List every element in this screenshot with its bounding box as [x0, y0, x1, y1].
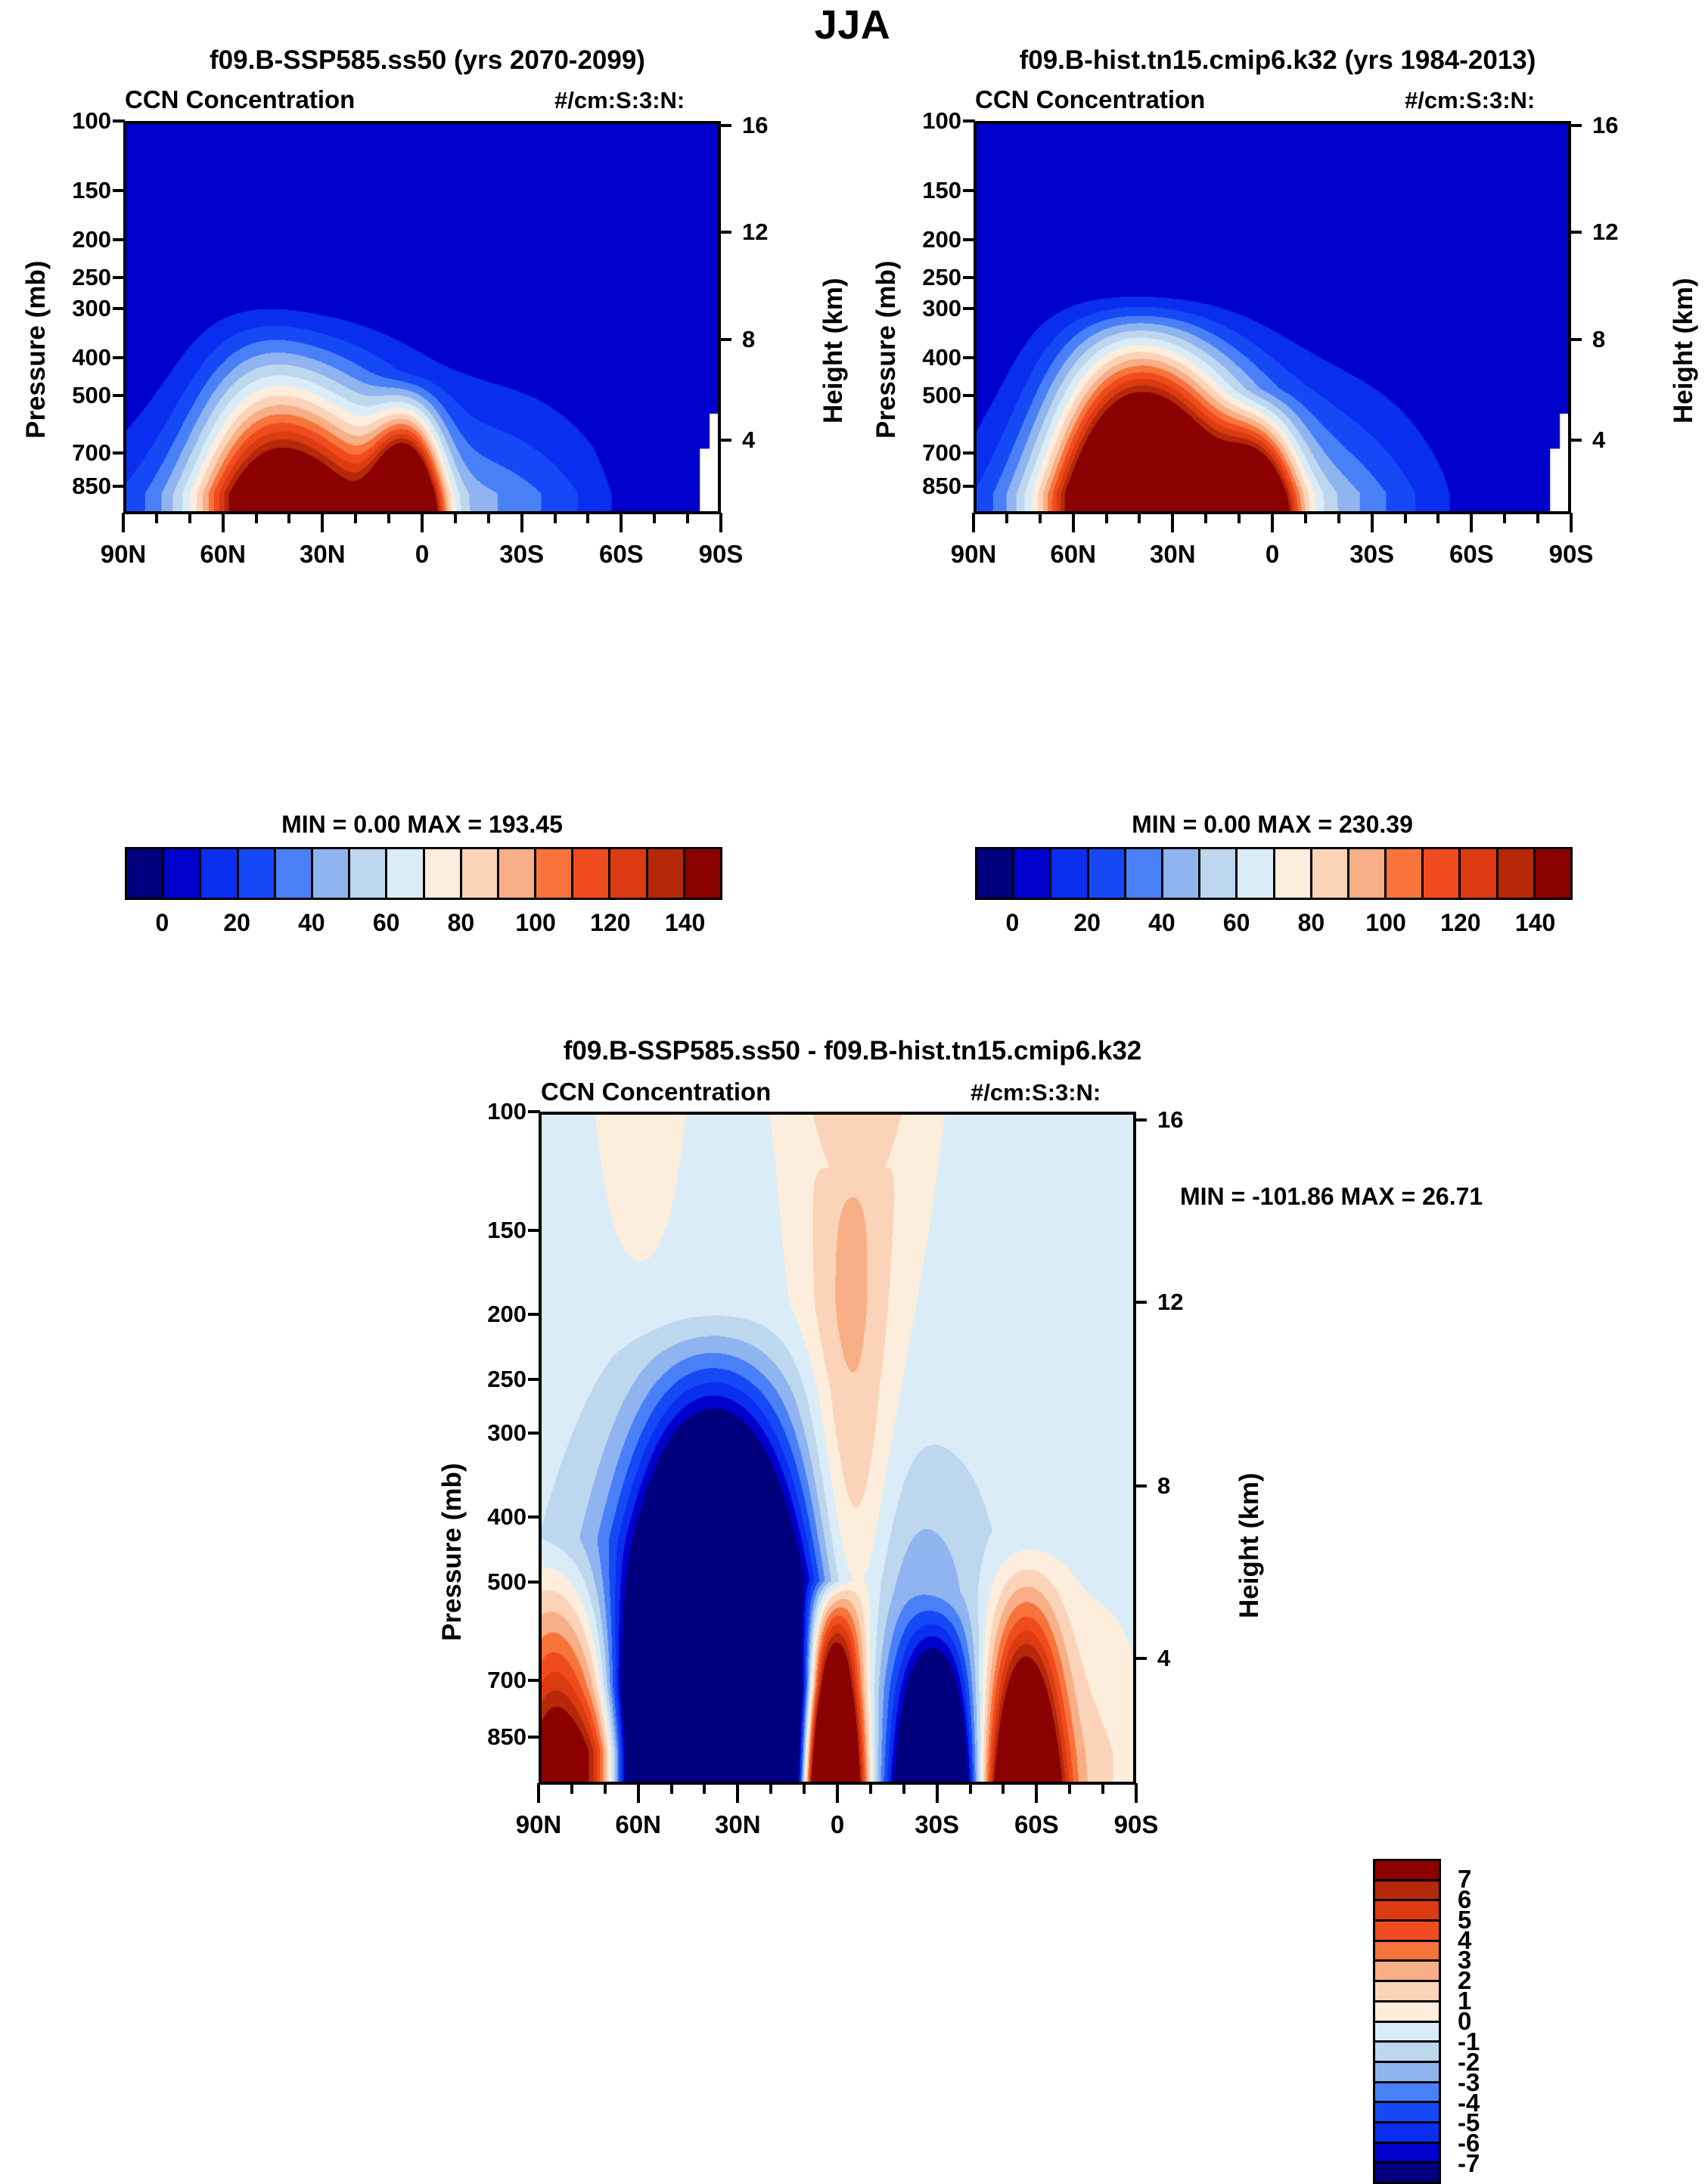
colorbar-cell: [1375, 1942, 1439, 1962]
colorbar-tick-label: 40: [298, 909, 325, 937]
colorbar-cell: [1375, 1882, 1439, 1902]
panel-diff-colorbar: [1373, 1859, 1441, 2184]
figure-title: JJA: [0, 2, 1705, 48]
colorbar-cell: [1375, 2043, 1439, 2063]
colorbar-cell: [1375, 2003, 1439, 2023]
colorbar-cell: [1375, 2144, 1439, 2164]
colorbar-cell: [1375, 2083, 1439, 2104]
colorbar-tick-label: 0: [1005, 909, 1019, 937]
colorbar-cell: [1375, 1861, 1439, 1882]
colorbar-tick-label: 120: [1440, 909, 1480, 937]
panel-diff-colorbar-labels: 76543210-1-2-3-4-5-6-7: [0, 1036, 1705, 1816]
colorbar-cell: [1375, 1962, 1439, 1982]
colorbar-cell: [1375, 1901, 1439, 1922]
colorbar-tick-label: 140: [665, 909, 705, 937]
panel-left-colorbar-labels: 020406080100120140: [0, 45, 855, 991]
panel-right-colorbar-labels: 020406080100120140: [850, 45, 1705, 991]
colorbar-cell: [1375, 2063, 1439, 2083]
colorbar-tick-label: 60: [373, 909, 400, 937]
colorbar-tick-label: 120: [590, 909, 630, 937]
colorbar-tick-label: -7: [1458, 2149, 1480, 2178]
colorbar-cell: [1375, 2103, 1439, 2124]
panel-right: f09.B-hist.tn15.cmip6.k32 (yrs 1984-2013…: [850, 45, 1705, 1051]
colorbar-tick-label: 140: [1515, 909, 1555, 937]
colorbar-tick-label: 80: [448, 909, 475, 937]
colorbar-tick-label: 20: [1073, 909, 1101, 937]
colorbar-tick-label: 60: [1223, 909, 1250, 937]
panel-left: f09.B-SSP585.ss50 (yrs 2070-2099) CCN Co…: [0, 45, 855, 1051]
colorbar-cell: [1375, 1922, 1439, 1942]
colorbar-tick-label: 100: [1365, 909, 1405, 937]
colorbar-tick-label: 80: [1298, 909, 1325, 937]
colorbar-cell: [1375, 2164, 1439, 2182]
colorbar-cell: [1375, 1982, 1439, 2003]
colorbar-tick-label: 100: [515, 909, 555, 937]
colorbar-tick-label: 40: [1148, 909, 1175, 937]
panel-diff: f09.B-SSP585.ss50 - f09.B-hist.tn15.cmip…: [0, 1036, 1705, 1816]
colorbar-tick-label: 20: [223, 909, 250, 937]
colorbar-cell: [1375, 2124, 1439, 2144]
colorbar-tick-label: 0: [155, 909, 169, 937]
colorbar-cell: [1375, 2023, 1439, 2043]
